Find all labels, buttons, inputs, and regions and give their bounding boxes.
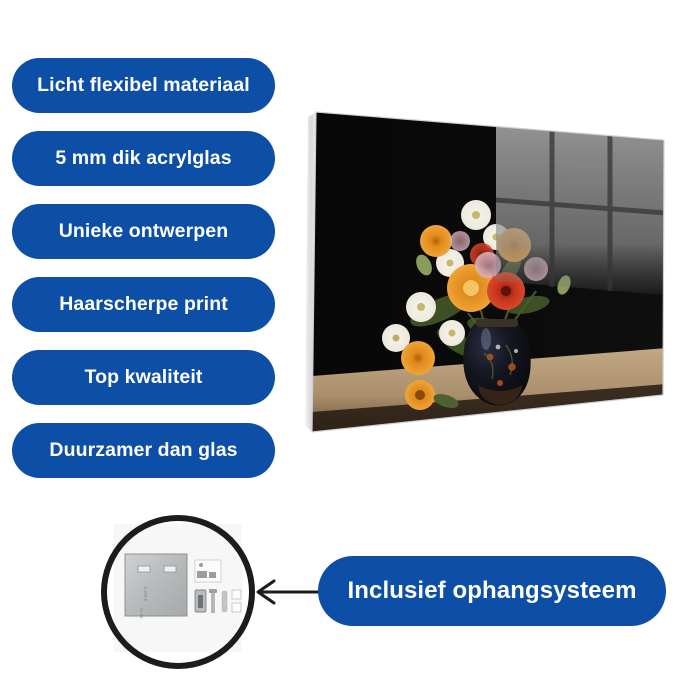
feature-pill-label: Duurzamer dan glas	[49, 439, 237, 462]
feature-pill-duurzamer-dan-glas[interactable]: Duurzamer dan glas	[12, 423, 275, 478]
feature-pill-label: 5 mm dik acrylglas	[55, 147, 231, 170]
panel-artwork	[300, 95, 680, 455]
hanging-kit-circle[interactable]: N W3.5 15-35	[100, 514, 256, 670]
callout-arrow-icon	[248, 572, 326, 612]
feature-pill-label: Unieke ontwerpen	[59, 220, 229, 243]
svg-text:N W3.5: N W3.5	[143, 586, 148, 602]
metal-mounting-plate: N W3.5 15-35	[125, 554, 187, 619]
wall-plug	[222, 591, 227, 612]
instruction-sheet	[195, 560, 221, 582]
window-reflection-glare	[496, 123, 666, 295]
feature-pill-licht-flexibel-materiaal[interactable]: Licht flexibel materiaal	[12, 58, 275, 113]
feature-pill-haarscherpe-print[interactable]: Haarscherpe print	[12, 277, 275, 332]
svg-text:15-35: 15-35	[139, 607, 144, 619]
feature-pill-unieke-ontwerpen[interactable]: Unieke ontwerpen	[12, 204, 275, 259]
feature-pill-5-mm-dik-acrylglas[interactable]: 5 mm dik acrylglas	[12, 131, 275, 186]
callout-pill-inclusief-ophangsysteem[interactable]: Inclusief ophangsysteem	[318, 556, 666, 626]
callout-pill-label: Inclusief ophangsysteem	[347, 577, 636, 605]
acrylic-print-panel[interactable]	[300, 95, 680, 455]
feature-pill-label: Haarscherpe print	[59, 293, 228, 316]
product-feature-infographic: Licht flexibel materiaal 5 mm dik acrylg…	[0, 0, 700, 700]
feature-pill-label: Licht flexibel materiaal	[37, 74, 250, 97]
feature-pill-label: Top kwaliteit	[85, 366, 203, 389]
feature-pill-top-kwaliteit[interactable]: Top kwaliteit	[12, 350, 275, 405]
